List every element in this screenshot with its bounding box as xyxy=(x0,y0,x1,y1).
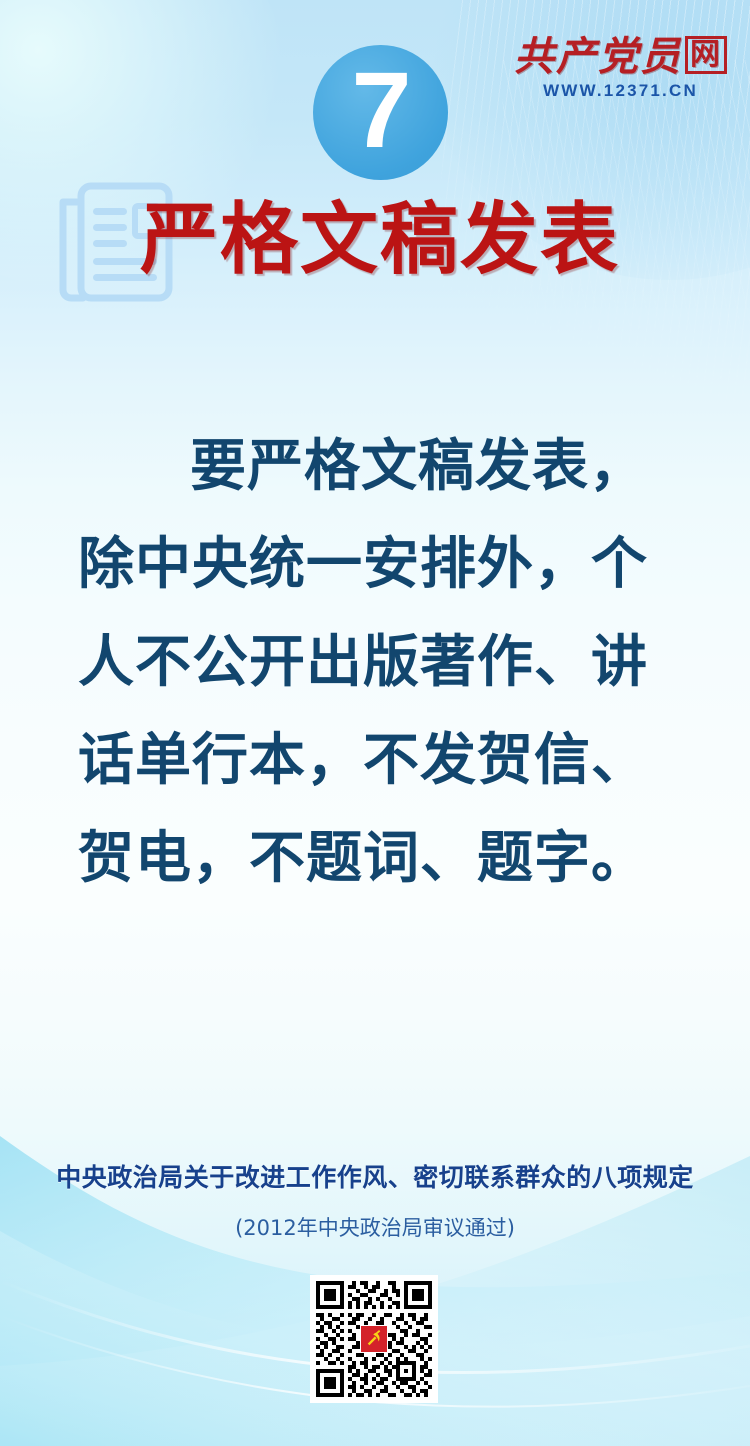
body-paragraph: 要严格文稿发表，除中央统一安排外，个人不公开出版著作、讲话单行本，不发贺信、贺电… xyxy=(78,418,678,908)
number-badge-value: 7 xyxy=(351,56,411,164)
logo-brand-text: 共产党员 xyxy=(514,34,682,79)
qr-code[interactable] xyxy=(310,1275,438,1403)
qr-center-emblem xyxy=(360,1325,388,1353)
party-emblem-icon xyxy=(361,1326,387,1352)
footer-regulation-title: 中央政治局关于改进工作作风、密切联系群众的八项规定 xyxy=(0,1158,750,1194)
hammer-sickle-glyph xyxy=(364,1329,384,1349)
logo-url[interactable]: WWW.12371.CN xyxy=(513,81,728,101)
poster-canvas: 共产党员网 WWW.12371.CN 7 严格文稿发表 要严格文稿发表，除中央统… xyxy=(0,0,750,1446)
number-badge: 7 xyxy=(313,45,448,180)
page-title: 严格文稿发表 xyxy=(140,200,620,282)
logo-brand-boxed-char: 网 xyxy=(685,36,727,74)
footer-regulation-subtitle: (2012年中央政治局审议通过) xyxy=(0,1212,750,1242)
logo-wordmark: 共产党员网 xyxy=(513,36,728,78)
site-logo[interactable]: 共产党员网 WWW.12371.CN xyxy=(513,36,728,101)
